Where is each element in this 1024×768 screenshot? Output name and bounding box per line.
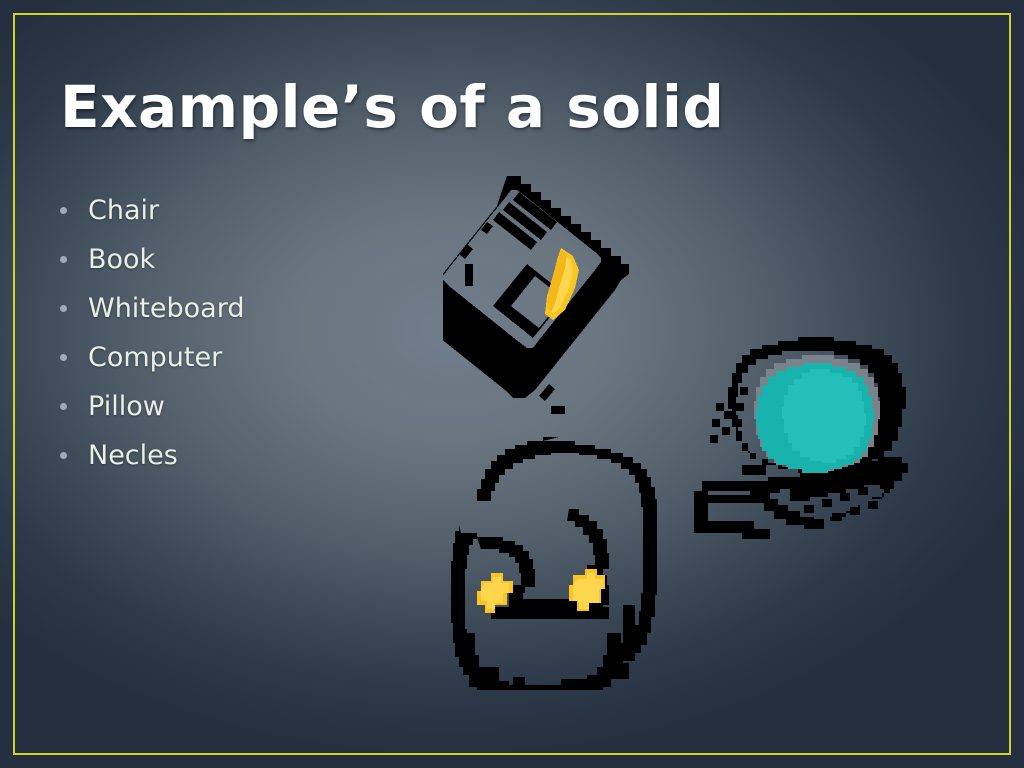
list-item-label: Book bbox=[88, 244, 155, 275]
chair-clipart-icon bbox=[447, 435, 674, 690]
list-item: Computer bbox=[60, 333, 390, 382]
page-title: Example’s of a solid bbox=[60, 78, 724, 136]
list-item-label: Necles bbox=[88, 440, 178, 471]
list-item: Pillow bbox=[60, 382, 390, 431]
book-clipart-icon bbox=[443, 168, 655, 420]
list-item: Book bbox=[60, 235, 390, 284]
list-item-label: Pillow bbox=[88, 391, 165, 422]
slide-canvas: Example’s of a solid Chair Book Whiteboa… bbox=[0, 0, 1024, 768]
list-item-label: Computer bbox=[88, 342, 222, 373]
bullet-dot-icon bbox=[60, 354, 67, 361]
bullet-dot-icon bbox=[60, 207, 67, 214]
bullet-dot-icon bbox=[60, 256, 67, 263]
list-item-label: Chair bbox=[88, 195, 159, 226]
bullet-dot-icon bbox=[60, 305, 67, 312]
list-item-label: Whiteboard bbox=[88, 293, 244, 324]
computer-clipart-icon bbox=[686, 333, 930, 578]
bullet-list: Chair Book Whiteboard Computer Pillow Ne… bbox=[60, 186, 390, 480]
list-item: Whiteboard bbox=[60, 284, 390, 333]
bullet-dot-icon bbox=[60, 403, 67, 410]
list-item: Necles bbox=[60, 431, 390, 480]
list-item: Chair bbox=[60, 186, 390, 235]
bullet-dot-icon bbox=[60, 452, 67, 459]
